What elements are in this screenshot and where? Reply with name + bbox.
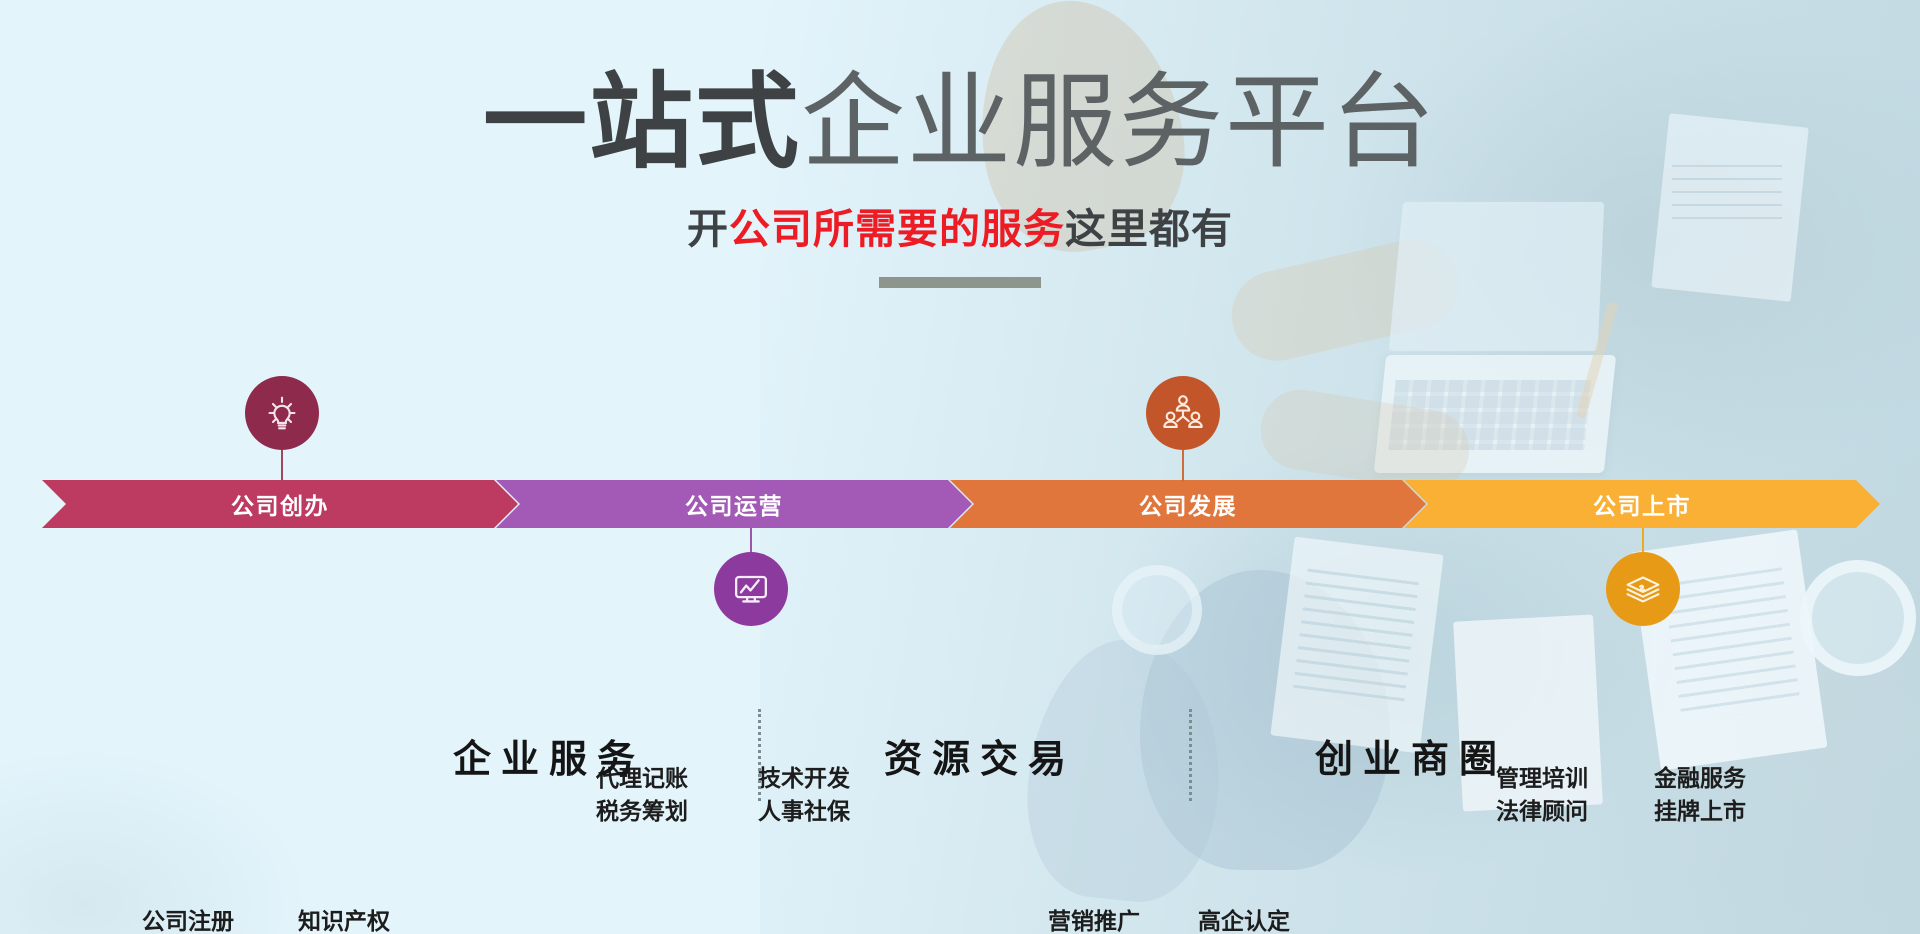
timeline-stage-1-label: 公司创办	[231, 487, 329, 521]
service-group-company-registration: 公司注册 资质办理	[142, 905, 234, 934]
node-stem-4	[1642, 528, 1644, 554]
one-stop-service-banner: 一站式企业服务平台 开公司所需要的服务这里都有 公司创办 公司运营 公司发展 公…	[0, 0, 1920, 934]
title-light-part: 企业服务平台	[801, 65, 1437, 181]
service-group-intellectual-property: 知识产权 银行开户	[298, 905, 390, 934]
timeline-stage-4-label: 公司上市	[1593, 487, 1691, 521]
timeline-stage-3[interactable]: 公司发展	[950, 480, 1426, 528]
node-stem-1	[281, 450, 283, 482]
lightbulb-icon	[245, 376, 319, 450]
node-stem-2	[750, 528, 752, 554]
service-line: 公司注册	[142, 905, 234, 934]
subtitle-prefix: 开	[687, 206, 729, 252]
subtitle-suffix: 这里都有	[1065, 206, 1233, 252]
header-divider	[879, 277, 1041, 288]
timeline-stage-2-label: 公司运营	[685, 487, 783, 521]
page-title: 一站式企业服务平台	[0, 62, 1920, 185]
timeline-stage-3-label: 公司发展	[1139, 487, 1237, 521]
category-enterprise-service[interactable]: 企业服务	[330, 728, 758, 783]
service-line: 知识产权	[298, 905, 390, 934]
subtitle-highlight: 公司所需要的服务	[729, 206, 1065, 252]
service-group-certification: 高企认定 资源交易	[1198, 905, 1290, 934]
service-line: 高企认定	[1198, 905, 1290, 934]
category-startup-circle[interactable]: 创业商圈	[1192, 728, 1620, 783]
page-subtitle: 开公司所需要的服务这里都有	[0, 195, 1920, 255]
monitor-chart-icon	[714, 552, 788, 626]
team-people-icon	[1146, 376, 1220, 450]
service-timeline: 公司创办 公司运营 公司发展 公司上市	[0, 362, 1920, 662]
timeline-stage-2[interactable]: 公司运营	[496, 480, 972, 528]
category-resource-trading[interactable]: 资源交易	[761, 728, 1189, 783]
node-stem-3	[1182, 450, 1184, 482]
service-line: 挂牌上市	[1654, 795, 1746, 828]
service-line: 金融服务	[1654, 762, 1746, 795]
timeline-stage-1[interactable]: 公司创办	[42, 480, 518, 528]
service-group-marketing: 营销推广 品牌设计	[1048, 905, 1140, 934]
title-bold-part: 一站式	[483, 65, 801, 181]
banner-header: 一站式企业服务平台 开公司所需要的服务这里都有	[0, 0, 1920, 288]
category-row: 企业服务 资源交易 创业商圈	[330, 700, 1620, 810]
service-line: 营销推广	[1048, 905, 1140, 934]
timeline-arrow-bar: 公司创办 公司运营 公司发展 公司上市	[42, 480, 1880, 528]
timeline-stage-4[interactable]: 公司上市	[1404, 480, 1880, 528]
money-stack-icon	[1606, 552, 1680, 626]
service-group-financial-services: 金融服务 挂牌上市	[1654, 762, 1746, 827]
